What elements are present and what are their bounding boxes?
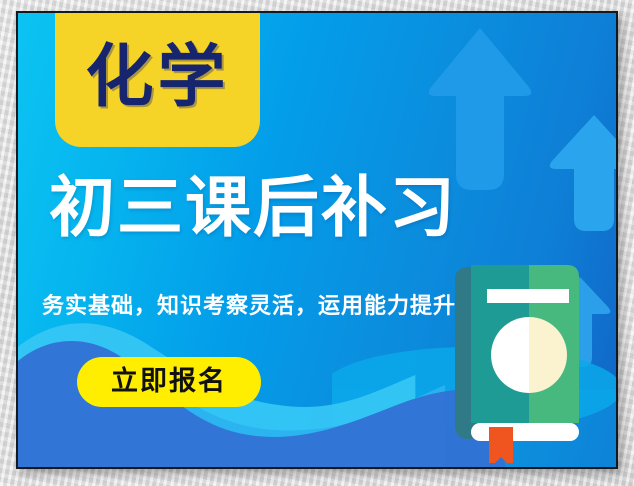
enroll-now-button-label: 立即报名 <box>111 368 227 395</box>
subtitle-text: 务实基础，知识考察灵活，运用能力提升 <box>18 294 480 320</box>
subject-badge-label: 化学 <box>85 44 229 112</box>
book-icon <box>453 263 603 463</box>
banner-frame: 化学 初三课后补习 务实基础，知识考察灵活，运用能力提升 立即报名 <box>16 11 618 469</box>
arrow-up-large-icon <box>424 26 536 192</box>
subject-badge: 化学 <box>55 13 260 147</box>
enroll-now-button[interactable]: 立即报名 <box>77 357 261 407</box>
page-title: 初三课后补习 <box>18 173 488 243</box>
arrow-up-medium-icon <box>548 113 616 233</box>
banner-canvas: 化学 初三课后补习 务实基础，知识考察灵活，运用能力提升 立即报名 <box>18 13 616 467</box>
